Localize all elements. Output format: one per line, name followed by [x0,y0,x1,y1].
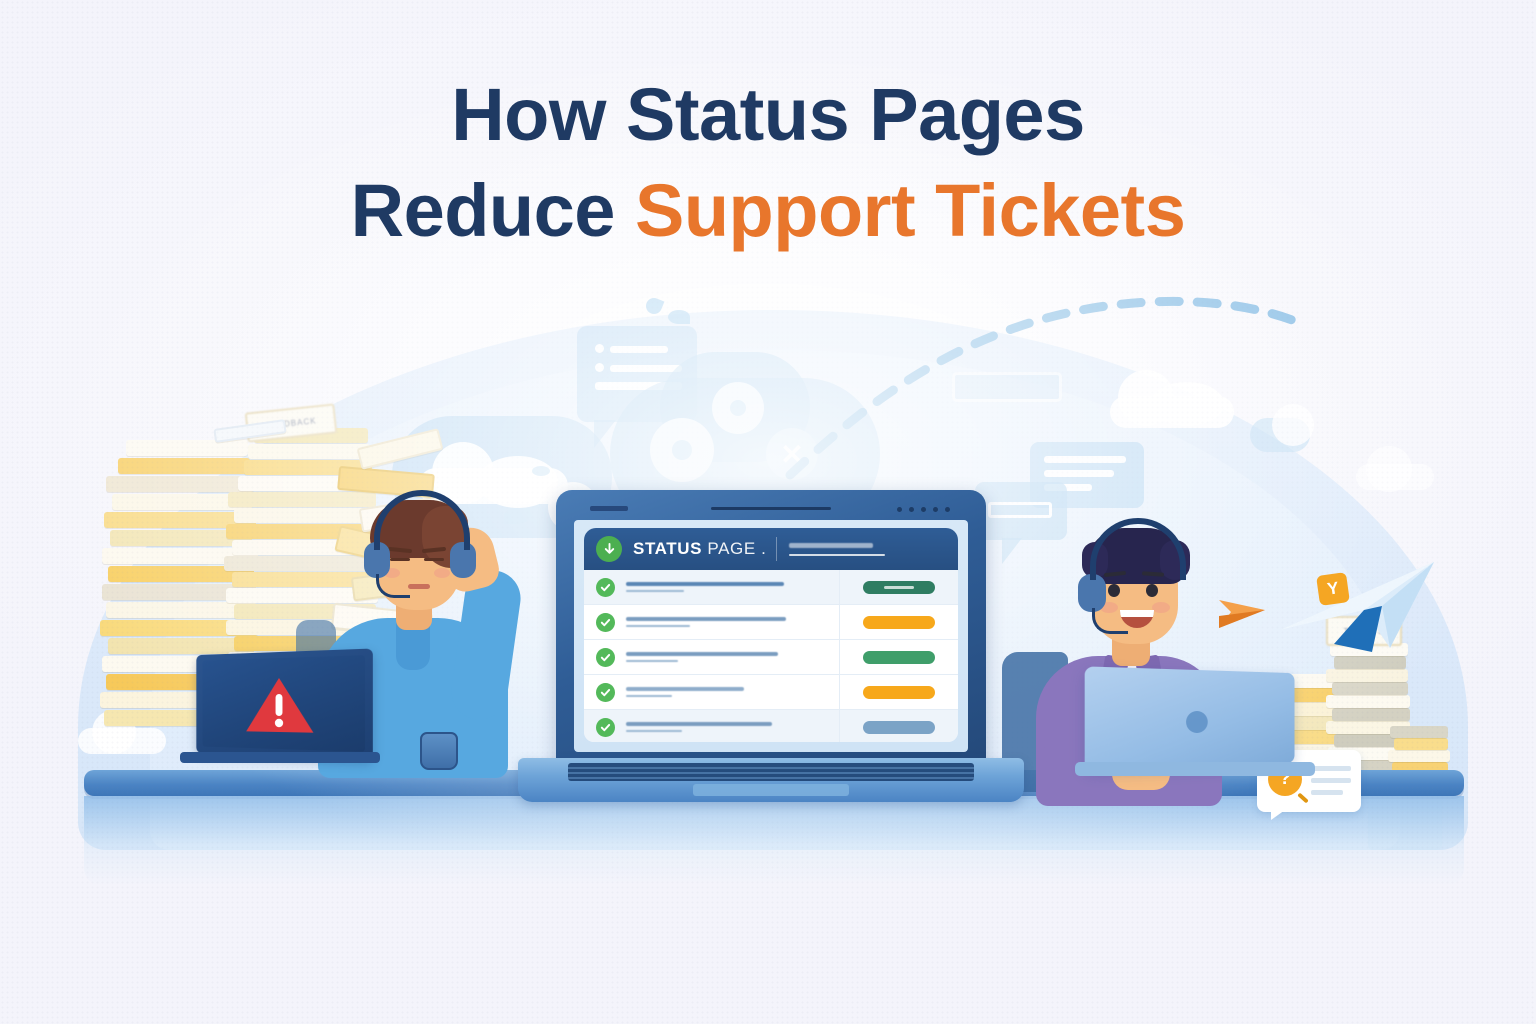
agent-laptop-right [1075,670,1315,785]
laptop-screen: STATUS PAGE . [574,520,968,752]
headset-mic-icon [376,574,410,598]
status-badge [863,686,935,699]
table-row[interactable] [584,605,958,640]
scene: ✕ ✕ [0,270,1536,890]
brand-bold: STATUS [633,539,702,558]
bezel-dots [897,507,950,512]
row-label [626,652,839,662]
sparkle-icon [644,296,665,317]
status-badge [863,651,935,664]
laptop-logo [1186,711,1208,733]
cloud-icon [1356,464,1434,490]
status-badge [863,721,935,734]
row-label [626,722,839,732]
row-label [626,617,839,627]
chat-bullet [595,344,604,353]
row-status [839,605,958,639]
brand-light: PAGE . [702,539,766,558]
agent-laptop-lid [1085,666,1295,769]
status-page-rows [584,570,958,742]
laptop-trackpad[interactable] [693,784,849,796]
plane-badge-glyph: Y [1326,578,1340,599]
agent-eye [390,558,410,561]
chat-line [610,346,668,353]
faq-line [1311,766,1351,771]
download-circle-icon [596,536,622,562]
laptop-lid: STATUS PAGE . [556,490,986,765]
agent-eye [1146,584,1158,597]
agent-eye [424,558,444,561]
illustration-canvas: ✕ ✕ [0,0,1536,1024]
title-line-2-accent: Support Tickets [635,169,1185,252]
cloud-icon [1110,396,1234,428]
alert-laptop-screen [202,655,365,752]
title-line-1: How Status Pages [0,78,1536,152]
check-circle-icon [596,613,615,632]
check-circle-icon [596,648,615,667]
sparkle-icon [668,310,690,324]
warning-triangle-icon [244,674,315,738]
faq-line [1311,778,1351,783]
status-badge [863,581,935,594]
faq-card-tail [1271,810,1285,820]
alert-laptop-lid [196,648,373,759]
table-row[interactable] [584,675,958,710]
gear-hub [730,400,746,416]
agent-cheek [1152,602,1170,613]
check-circle-icon [596,578,615,597]
check-circle-icon [596,718,615,737]
status-page-laptop: STATUS PAGE . [556,490,986,810]
row-status [839,640,958,674]
agent-laptop-base [1075,762,1315,776]
agent-mouth [408,584,430,589]
webcam-slit [711,507,831,510]
row-status [839,710,958,742]
agent-eye [1108,584,1120,597]
title-line-2: Reduce Support Tickets [0,174,1536,248]
gear-hub [672,440,692,460]
status-badge [863,616,935,629]
info-card [952,372,1062,402]
headset-mic-icon [1092,608,1128,634]
table-row[interactable] [584,570,958,605]
alert-laptop [190,652,390,772]
status-page-meta [789,543,885,556]
table-row[interactable] [584,710,958,742]
title-line-2-prefix: Reduce [351,169,635,252]
row-status [839,675,958,709]
row-status [839,570,958,604]
row-label [626,687,839,697]
faq-line [1311,790,1343,795]
laptop-bezel [572,498,970,518]
bezel-detail [590,506,628,511]
row-label [626,582,839,592]
check-circle-icon [596,683,615,702]
laptop-keyboard[interactable] [568,763,974,781]
headset-band-icon [374,490,470,550]
headset-band-icon [1090,518,1186,580]
chat-line [610,365,682,372]
agent-cheek [434,568,450,578]
status-page-brand: STATUS PAGE . [633,539,766,559]
status-page-header: STATUS PAGE . [584,528,958,570]
table-row[interactable] [584,640,958,675]
header-divider [776,537,777,561]
cloud-icon [1272,404,1314,446]
plane-badge: Y [1316,572,1350,606]
chat-line [1044,456,1126,463]
mouse-icon [420,732,458,770]
paper-plane-icon: Y [1272,552,1442,662]
laptop-base [518,758,1024,802]
alert-laptop-base [180,752,380,763]
page-title: How Status Pages Reduce Support Tickets [0,78,1536,248]
chat-bullet [595,363,604,372]
arrow-icon [1217,590,1287,634]
